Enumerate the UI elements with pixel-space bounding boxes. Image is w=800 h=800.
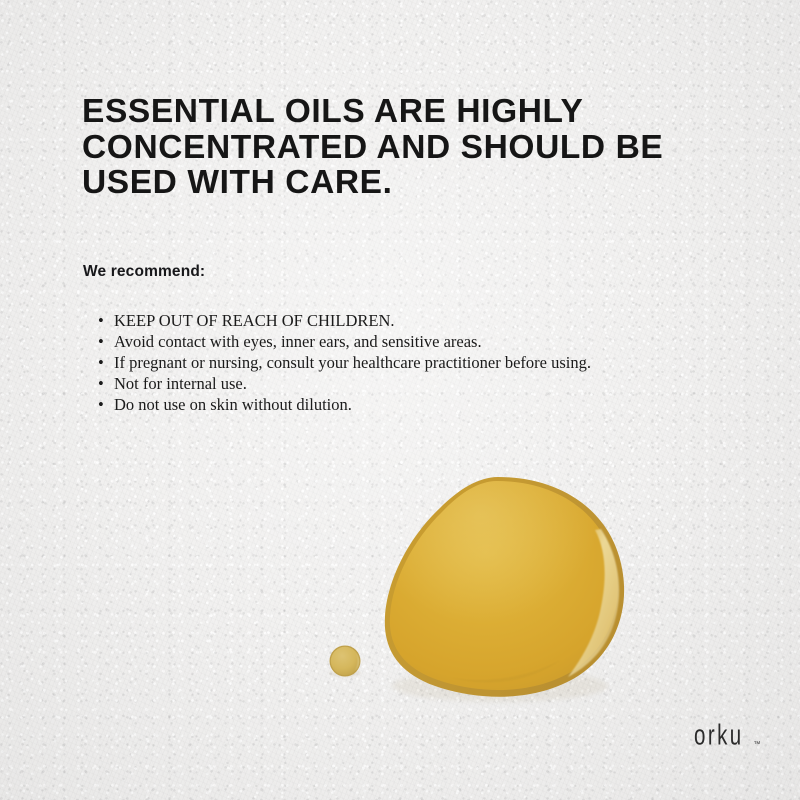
trademark-icon: ™ <box>753 741 760 748</box>
list-item-label: KEEP OUT OF REACH OF CHILDREN. <box>114 311 395 330</box>
list-item: • If pregnant or nursing, consult your h… <box>97 352 737 373</box>
bullet-icon: • <box>98 394 104 415</box>
list-item-label: If pregnant or nursing, consult your hea… <box>114 353 591 372</box>
recommendations-list: • KEEP OUT OF REACH OF CHILDREN. • Avoid… <box>97 310 737 415</box>
list-item: • Not for internal use. <box>97 373 737 394</box>
brand-logo: orku ™ <box>694 723 760 750</box>
list-item: • KEEP OUT OF REACH OF CHILDREN. <box>97 310 737 331</box>
poster-canvas: ESSENTIAL OILS ARE HIGHLY CONCENTRATED A… <box>0 0 800 800</box>
page-title: ESSENTIAL OILS ARE HIGHLY CONCENTRATED A… <box>82 94 732 201</box>
list-item-label: Avoid contact with eyes, inner ears, and… <box>114 332 482 351</box>
list-item: • Do not use on skin without dilution. <box>97 394 737 415</box>
list-item-label: Do not use on skin without dilution. <box>114 395 352 414</box>
brand-logo-wordmark: orku <box>694 721 744 750</box>
bullet-icon: • <box>98 331 104 352</box>
bullet-icon: • <box>98 352 104 373</box>
recommendations-heading: We recommend: <box>83 263 205 281</box>
bullet-icon: • <box>98 373 104 394</box>
list-item-label: Not for internal use. <box>114 374 247 393</box>
list-item: • Avoid contact with eyes, inner ears, a… <box>97 331 737 352</box>
bullet-icon: • <box>98 310 104 331</box>
